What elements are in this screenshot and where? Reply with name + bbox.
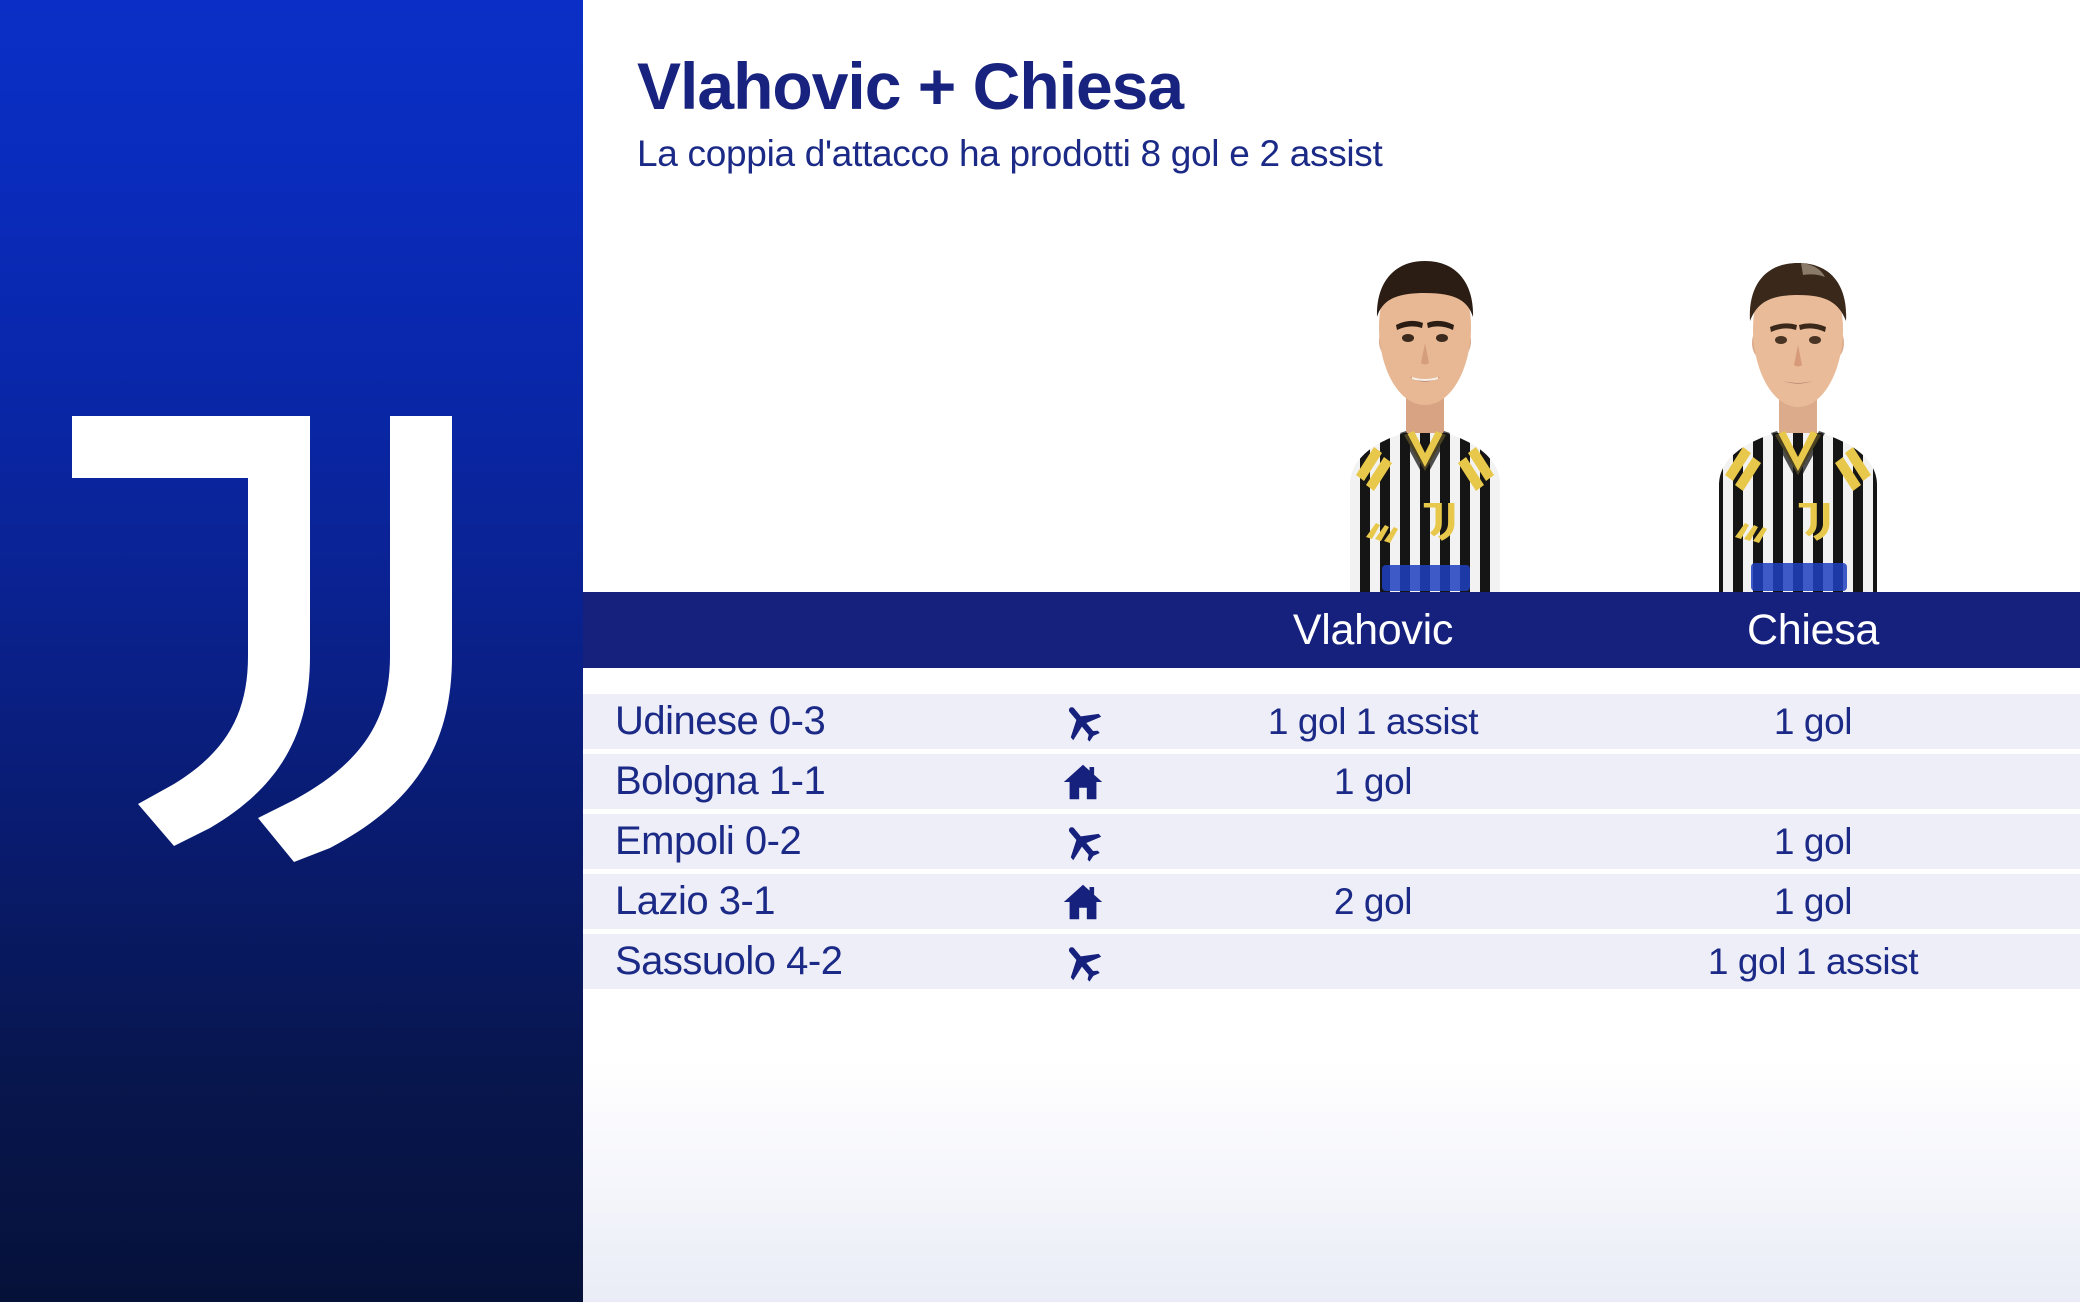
cell-chiesa: 1 gol <box>1593 881 2033 923</box>
cell-venue <box>1013 819 1153 865</box>
player-name-chiesa: Chiesa <box>1747 606 1879 654</box>
airplane-icon <box>1060 819 1106 865</box>
table-row: Empoli 0-2 1 gol <box>583 814 2080 869</box>
player-name-vlahovic: Vlahovic <box>1293 606 1453 654</box>
table-row: Sassuolo 4-2 1 gol 1 assist <box>583 934 2080 989</box>
player-portraits <box>583 230 2080 595</box>
cell-chiesa: 1 gol <box>1593 821 2033 863</box>
page-subtitle: La coppia d'attacco ha prodotti 8 gol e … <box>637 133 2037 175</box>
table-header-row: Vlahovic Chiesa <box>583 592 2080 668</box>
page-title: Vlahovic + Chiesa <box>637 52 2037 121</box>
cell-opponent: Empoli 0-2 <box>583 819 1013 864</box>
cell-venue <box>1013 939 1153 985</box>
house-icon <box>1060 759 1106 805</box>
content-panel: Vlahovic + Chiesa La coppia d'attacco ha… <box>583 0 2080 1302</box>
cell-vlahovic: 1 gol <box>1153 761 1593 803</box>
table-body: Udinese 0-3 1 gol 1 assist 1 gol <box>583 694 2080 989</box>
cell-venue <box>1013 699 1153 745</box>
cell-chiesa: 1 gol <box>1593 701 2033 743</box>
table-row: Lazio 3-1 2 gol 1 gol <box>583 874 2080 929</box>
brand-panel <box>0 0 583 1302</box>
cell-opponent: Lazio 3-1 <box>583 879 1013 924</box>
cell-vlahovic: 2 gol <box>1153 881 1593 923</box>
table-row: Udinese 0-3 1 gol 1 assist 1 gol <box>583 694 2080 749</box>
cell-venue <box>1013 879 1153 925</box>
header-cell-chiesa: Chiesa <box>1593 606 2033 655</box>
airplane-icon <box>1060 939 1106 985</box>
juventus-j-crest-icon <box>62 406 462 866</box>
cell-opponent: Bologna 1-1 <box>583 759 1013 804</box>
table-row: Bologna 1-1 1 gol <box>583 754 2080 809</box>
cell-venue <box>1013 759 1153 805</box>
bottom-fade <box>583 1060 2080 1302</box>
stats-table: Vlahovic Chiesa Udinese 0-3 <box>583 592 2080 994</box>
cell-chiesa: 1 gol 1 assist <box>1593 941 2033 983</box>
cell-opponent: Udinese 0-3 <box>583 699 1013 744</box>
header-cell-vlahovic: Vlahovic <box>1153 606 1593 655</box>
titles-block: Vlahovic + Chiesa La coppia d'attacco ha… <box>637 52 2037 175</box>
player-portrait-chiesa-icon <box>1673 235 1923 595</box>
house-icon <box>1060 879 1106 925</box>
airplane-icon <box>1060 699 1106 745</box>
cell-vlahovic: 1 gol 1 assist <box>1153 701 1593 743</box>
infographic-root: Vlahovic + Chiesa La coppia d'attacco ha… <box>0 0 2080 1302</box>
player-portrait-vlahovic-icon <box>1300 235 1550 595</box>
cell-opponent: Sassuolo 4-2 <box>583 939 1013 984</box>
